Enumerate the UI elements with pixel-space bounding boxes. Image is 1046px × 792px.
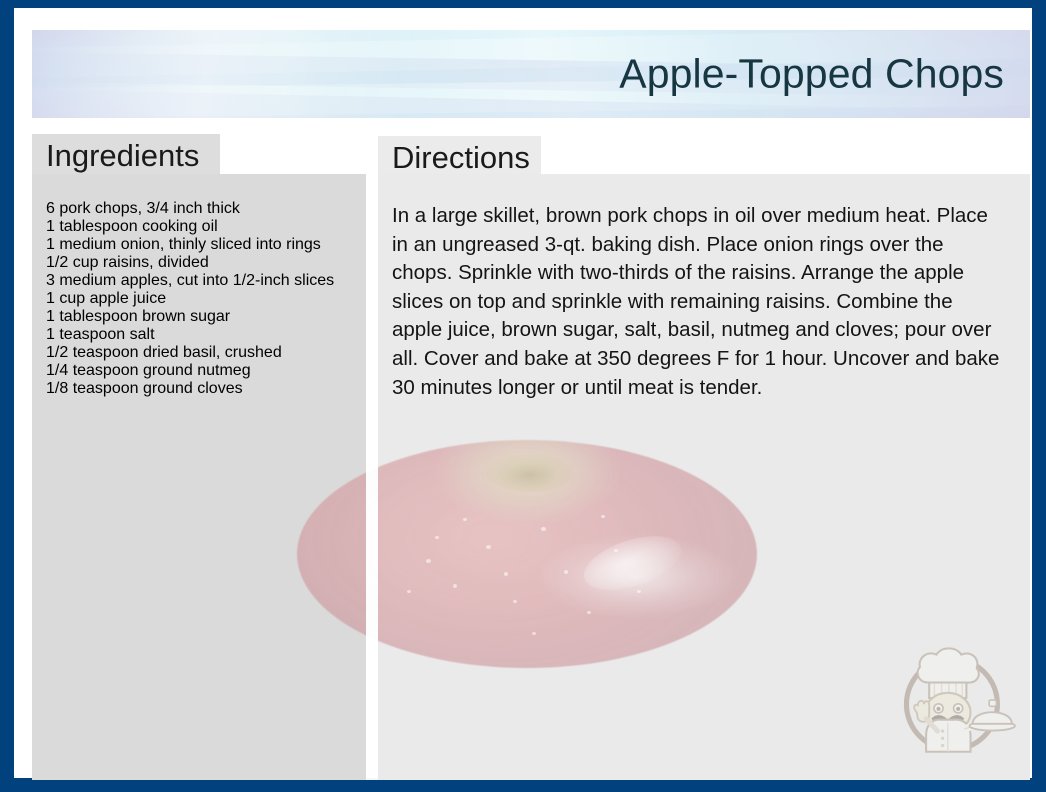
directions-panel: In a large skillet, brown pork chops in … (378, 174, 1030, 780)
ingredient-item: 3 medium apples, cut into 1/2-inch slice… (46, 272, 356, 290)
ingredients-list: 6 pork chops, 3/4 inch thick 1 tablespoo… (32, 174, 366, 398)
ingredient-item: 1 teaspoon salt (46, 326, 356, 344)
directions-heading: Directions (392, 140, 530, 176)
slide-page: Apple-Topped Chops Ingredients 6 pork ch… (14, 8, 1032, 778)
directions-text: In a large skillet, brown pork chops in … (378, 174, 1030, 402)
ingredient-item: 1/8 teaspoon ground cloves (46, 380, 356, 398)
ingredient-item: 1/4 teaspoon ground nutmeg (46, 362, 356, 380)
ingredients-panel: 6 pork chops, 3/4 inch thick 1 tablespoo… (32, 174, 366, 780)
panel-divider (366, 174, 378, 780)
ingredient-item: 6 pork chops, 3/4 inch thick (46, 200, 356, 218)
ingredient-item: 1 medium onion, thinly sliced into rings (46, 236, 356, 254)
ingredient-item: 1 tablespoon cooking oil (46, 218, 356, 236)
ingredient-item: 1 tablespoon brown sugar (46, 308, 356, 326)
ingredients-heading: Ingredients (46, 138, 199, 174)
ingredient-item: 1/2 teaspoon dried basil, crushed (46, 344, 356, 362)
title-banner: Apple-Topped Chops (32, 30, 1030, 118)
slide-title: Apple-Topped Chops (619, 51, 1004, 98)
ingredients-tab[interactable]: Ingredients (32, 134, 220, 178)
ingredient-item: 1 cup apple juice (46, 290, 356, 308)
slide-border-frame: Apple-Topped Chops Ingredients 6 pork ch… (0, 0, 1046, 792)
ingredient-item: 1/2 cup raisins, divided (46, 254, 356, 272)
